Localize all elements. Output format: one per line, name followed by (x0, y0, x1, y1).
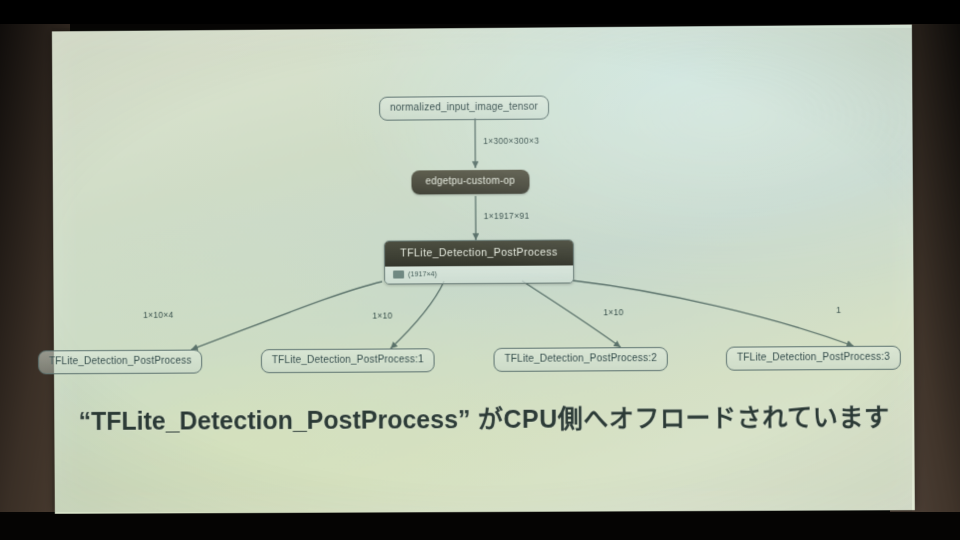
node-output-tflite-detection-postprocess-1[interactable]: TFLite_Detection_PostProcess:1 (261, 348, 435, 373)
edge-label-input-to-edgetpu: 1×300×300×3 (483, 136, 539, 146)
node-header-label: TFLite_Detection_PostProcess (385, 240, 573, 266)
edge-label-out1: 1×10 (372, 311, 392, 321)
node-normalized-input-image-tensor[interactable]: normalized_input_image_tensor (379, 95, 549, 120)
letterbox-bottom (0, 514, 960, 540)
node-output-tflite-detection-postprocess-2[interactable]: TFLite_Detection_PostProcess:2 (493, 347, 668, 372)
edge-label-out0: 1×10×4 (143, 310, 174, 320)
node-edgetpu-custom-op[interactable]: edgetpu-custom-op (411, 170, 529, 195)
caption-rest: がCPU側へオフロードされています (470, 404, 889, 434)
slide-caption: “TFLite_Detection_PostProcess” がCPU側へオフロ… (54, 398, 914, 438)
node-tflite-detection-postprocess[interactable]: TFLite_Detection_PostProcess (1917×4) (384, 239, 574, 284)
node-output-tflite-detection-postprocess-3[interactable]: TFLite_Detection_PostProcess:3 (726, 346, 901, 371)
edge-label-edgetpu-to-postprocess: 1×1917×91 (484, 211, 530, 221)
edge-label-out2: 1×10 (603, 307, 623, 317)
model-graph: normalized_input_image_tensor 1×300×300×… (52, 25, 914, 391)
tensor-icon (393, 270, 404, 278)
node-attribute-row: (1917×4) (385, 265, 573, 283)
projected-slide-photo: normalized_input_image_tensor 1×300×300×… (0, 0, 960, 540)
presentation-slide: normalized_input_image_tensor 1×300×300×… (52, 25, 915, 514)
edge-label-out3: 1 (836, 305, 841, 315)
node-output-tflite-detection-postprocess[interactable]: TFLite_Detection_PostProcess (38, 350, 203, 375)
letterbox-top (0, 0, 960, 24)
graph-edges (52, 25, 914, 391)
caption-quoted-term: “TFLite_Detection_PostProcess” (79, 406, 471, 436)
node-sub-label: (1917×4) (408, 271, 437, 278)
